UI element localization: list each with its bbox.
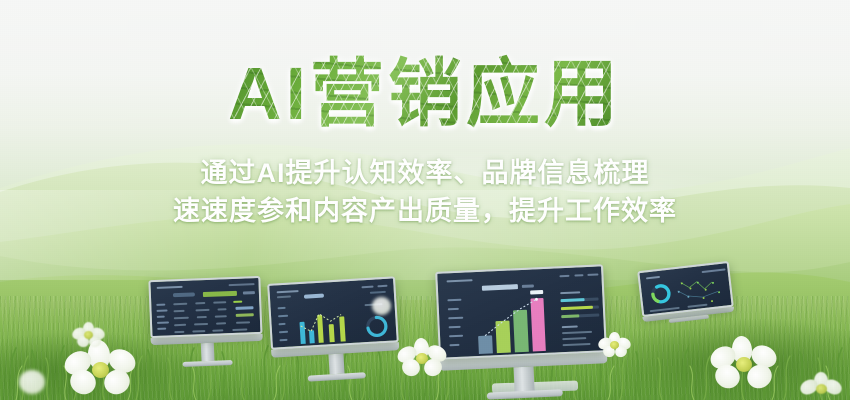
screen2-trend-line — [297, 303, 357, 344]
screen1-label-5 — [157, 328, 166, 330]
screen1-title-bar — [157, 286, 183, 289]
screen1-grid-1d — [233, 301, 242, 303]
screen2-header-right-3 — [370, 291, 386, 294]
daisy-front-left — [62, 340, 140, 400]
screen3-bar-chart — [472, 295, 552, 354]
daisy-core — [816, 384, 827, 394]
daisy-bud-center — [370, 296, 394, 318]
screen2-kpi-chip — [304, 294, 324, 299]
screen1-grid-3b — [197, 316, 207, 318]
daisy-core — [736, 357, 752, 372]
screen2-axis-3 — [279, 323, 286, 325]
screen3-side-head2 — [562, 325, 578, 328]
screen1-grid-3a — [174, 317, 189, 320]
screen3-header-r3 — [587, 273, 598, 275]
subtitle-block: 通过AI提升认知效率、品牌信息梳理 速速度参和内容产出质量，提升工作效率 — [0, 157, 850, 228]
petal — [19, 370, 45, 394]
screen3-side-row1-fill — [561, 298, 585, 302]
daisy-core — [416, 353, 428, 364]
screen3-title-sub — [522, 284, 534, 288]
banner-canvas: AI营销应用 AI营销应用 通过AI提升认知效率、品牌信息梳理 速速度参和内容产… — [0, 0, 850, 400]
screen3-nav-6[interactable] — [449, 344, 459, 346]
screen1-grid-4c — [216, 322, 226, 324]
screen3-header-r1 — [559, 275, 569, 277]
daisy-edge-right — [800, 372, 844, 400]
screen1-grid-1c — [213, 301, 226, 303]
screen1-grid-5d — [232, 328, 247, 331]
screen4-header-r — [702, 268, 726, 273]
screen1-label-3 — [157, 316, 165, 318]
tablet-4 — [637, 261, 735, 326]
monitor-3-screen[interactable] — [435, 264, 607, 360]
screen3-value-badge — [530, 290, 543, 295]
screen3-nav-4[interactable] — [449, 326, 461, 329]
screen1-grid-2d — [235, 306, 253, 310]
screen2-axis-4 — [279, 331, 288, 334]
screen3-side-item2 — [562, 337, 586, 340]
subtitle-line-2: 速速度参和内容产出质量，提升工作效率 — [0, 195, 850, 228]
screen1-search-bar — [173, 292, 195, 297]
screen3-side-item3 — [563, 343, 591, 346]
screen1-grid-4d — [236, 321, 250, 324]
screen2-header-right-1 — [361, 286, 373, 289]
screen1-label-1 — [156, 304, 165, 306]
daisy-right — [598, 332, 632, 360]
daisy-center — [396, 338, 448, 380]
screen3-nav-1[interactable] — [447, 299, 461, 302]
monitor-1-neck — [200, 343, 214, 361]
daisy-core — [84, 331, 93, 339]
screen4-title — [646, 276, 660, 280]
screen3-nav-3[interactable] — [448, 317, 463, 320]
screen3-nav-5[interactable] — [449, 335, 463, 338]
screen1-grid-2a — [174, 310, 185, 312]
screen3-side-row3-fill — [561, 314, 579, 318]
screen1-grid-1b — [195, 302, 205, 304]
screen2-bar-chart — [297, 303, 357, 344]
screen3-side-row2-fill — [561, 306, 593, 310]
screen3-trend-line — [472, 295, 552, 354]
screen3-side-head — [560, 291, 580, 294]
screen1-grid-2b — [196, 309, 210, 312]
screen1-grid-3c — [215, 315, 227, 317]
screen1-grid-3d — [236, 313, 254, 317]
screen2-axis-2 — [278, 315, 288, 318]
screen2-subtitle — [277, 295, 291, 298]
monitor-2 — [267, 276, 401, 383]
screen1-grid-4b — [194, 323, 208, 326]
petal — [372, 297, 391, 315]
screen3-page-title — [482, 284, 518, 291]
screen1-header-right — [243, 291, 255, 294]
daisy-core — [610, 341, 619, 349]
subtitle-line-1: 通过AI提升认知效率、品牌信息梳理 — [0, 157, 850, 190]
screen2-axis-1 — [278, 307, 286, 309]
screen1-header-dots-2 — [229, 283, 255, 286]
monitor-2-neck — [328, 354, 344, 375]
screen1-grid-4a — [174, 324, 186, 326]
monitor-3-neck — [514, 367, 535, 392]
screen3-nav-2[interactable] — [448, 308, 459, 310]
screen1-grid-1a — [173, 303, 187, 306]
daisy-far-right — [708, 336, 780, 394]
monitor-3 — [435, 264, 609, 400]
screen3-header-r2 — [574, 274, 583, 276]
screen2-axis-5 — [279, 339, 287, 341]
monitor-1-screen[interactable] — [148, 276, 262, 338]
screen1-label-2 — [156, 309, 167, 311]
screen4-footer — [650, 307, 680, 312]
screen1-accent-block — [203, 291, 237, 297]
screen2-title — [277, 290, 299, 293]
screen2-header-right-2 — [377, 285, 387, 288]
screen1-grid-5a — [174, 331, 184, 333]
page-title-wrap: AI营销应用 — [0, 52, 850, 136]
screen3-breadcrumb — [447, 279, 473, 282]
monitor-1 — [148, 276, 263, 368]
daisy-bud-left — [15, 368, 49, 398]
screen3-side-item1 — [562, 331, 592, 334]
screen1-grid-5b — [192, 330, 205, 332]
screen1-label-4 — [157, 321, 169, 323]
daisy-core — [92, 362, 109, 378]
screen1-grid-5c — [212, 329, 223, 331]
page-title: AI营销应用 — [228, 52, 622, 136]
screen4-donut-chart — [648, 281, 675, 308]
daisy-mid-left — [72, 322, 106, 348]
screen1-grid-2c — [217, 308, 226, 310]
